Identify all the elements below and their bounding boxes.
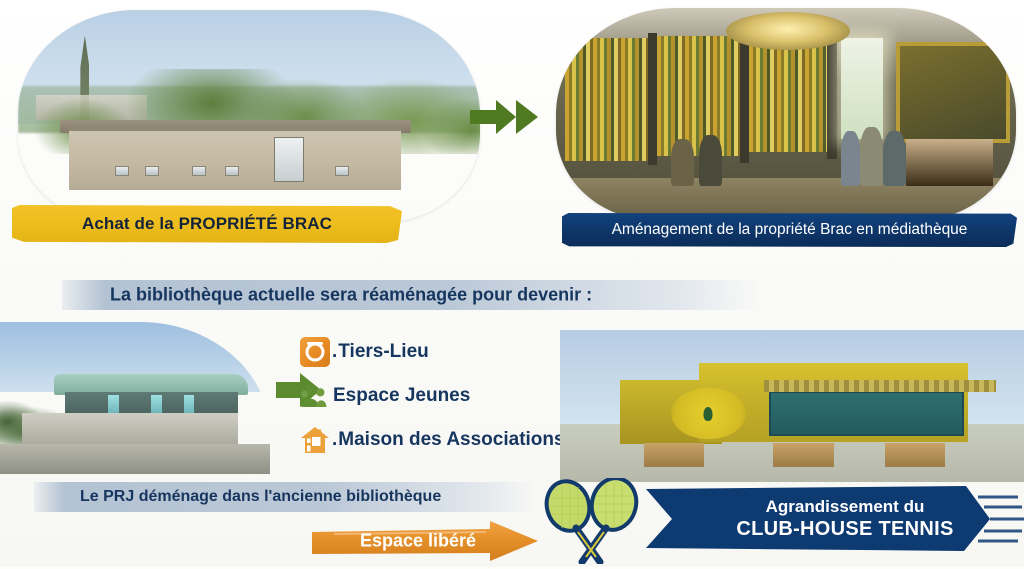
middle-heading-band: La bibliothèque actuelle sera réaménagée… bbox=[62, 280, 762, 310]
bibliotheque-actuelle-photo bbox=[0, 322, 270, 474]
visitor bbox=[671, 139, 694, 186]
bookshelf bbox=[657, 36, 740, 157]
espace-libere-arrow: Espace libéré bbox=[310, 520, 540, 562]
glass-facade bbox=[769, 391, 964, 437]
amenagement-mediatheque-label: Aménagement de la propriété Brac en médi… bbox=[562, 221, 1017, 239]
window-light bbox=[841, 38, 882, 140]
visitor bbox=[699, 135, 722, 186]
people-group-icon bbox=[300, 381, 330, 411]
list-item-label: Tiers-Lieu bbox=[338, 341, 428, 363]
club-house-ribbon-line2: CLUB-HOUSE TENNIS bbox=[706, 518, 984, 541]
picnic-table bbox=[644, 443, 704, 467]
bullet-separator: . bbox=[332, 341, 337, 363]
shelf-divider bbox=[740, 31, 749, 162]
wall-mirror bbox=[896, 42, 1010, 143]
visitor bbox=[883, 131, 906, 186]
shelf-divider bbox=[827, 31, 836, 158]
list-item-tiers-lieu[interactable]: . Tiers-Lieu bbox=[300, 330, 600, 374]
crossed-tennis-rackets-icon bbox=[528, 478, 656, 564]
bookshelf bbox=[565, 38, 648, 161]
achat-propriete-brac-banner: Achat de la PROPRIÉTÉ BRAC bbox=[12, 205, 402, 243]
double-chevron-arrow-right-icon bbox=[470, 96, 542, 138]
pergola bbox=[764, 380, 996, 392]
bullet-separator: . bbox=[332, 429, 337, 451]
propriete-brac-photo bbox=[18, 10, 480, 222]
middle-heading-label: La bibliothèque actuelle sera réaménagée… bbox=[110, 285, 592, 306]
house-door bbox=[274, 137, 304, 181]
shelf-divider bbox=[648, 33, 657, 164]
ground bbox=[0, 444, 270, 474]
window bbox=[115, 166, 129, 176]
mediatheque-photo bbox=[556, 8, 1016, 220]
future-uses-list: . Tiers-Lieu Espace Jeunes bbox=[300, 330, 600, 462]
club-house-ribbon-line1: Agrandissement du bbox=[706, 497, 984, 517]
list-item-espace-jeunes[interactable]: Espace Jeunes bbox=[300, 374, 600, 418]
boundary-wall bbox=[22, 413, 238, 446]
poster-canvas: Achat de la PROPRIÉTÉ BRAC Aménagement d… bbox=[0, 0, 1024, 567]
window bbox=[145, 166, 159, 176]
achat-propriete-brac-label: Achat de la PROPRIÉTÉ BRAC bbox=[12, 214, 402, 234]
visitor bbox=[860, 127, 883, 186]
visitor bbox=[841, 131, 859, 186]
espace-libere-label: Espace libéré bbox=[338, 531, 498, 552]
house-icon bbox=[300, 425, 330, 455]
prj-demenagement-label: Le PRJ déménage dans l'ancienne biblioth… bbox=[80, 488, 441, 506]
picnic-table bbox=[773, 443, 833, 467]
list-item-label: Espace Jeunes bbox=[333, 385, 470, 407]
tiers-lieu-icon bbox=[300, 337, 330, 367]
window bbox=[192, 166, 206, 176]
list-item-label: Maison des Associations bbox=[338, 429, 564, 451]
club-house-tennis-ribbon: Agrandissement du CLUB-HOUSE TENNIS bbox=[646, 485, 1024, 553]
window bbox=[335, 166, 349, 176]
bookshelf bbox=[749, 36, 827, 153]
fireplace bbox=[906, 139, 993, 186]
tennis-club-logo bbox=[671, 388, 745, 440]
amenagement-mediatheque-banner: Aménagement de la propriété Brac en médi… bbox=[562, 213, 1017, 247]
window bbox=[225, 166, 239, 176]
prj-demenagement-band: Le PRJ déménage dans l'ancienne biblioth… bbox=[34, 482, 534, 512]
club-house-tennis-photo bbox=[560, 330, 1024, 482]
picnic-table bbox=[885, 443, 945, 467]
list-item-maison-des-associations[interactable]: . Maison des Associations bbox=[300, 418, 600, 462]
